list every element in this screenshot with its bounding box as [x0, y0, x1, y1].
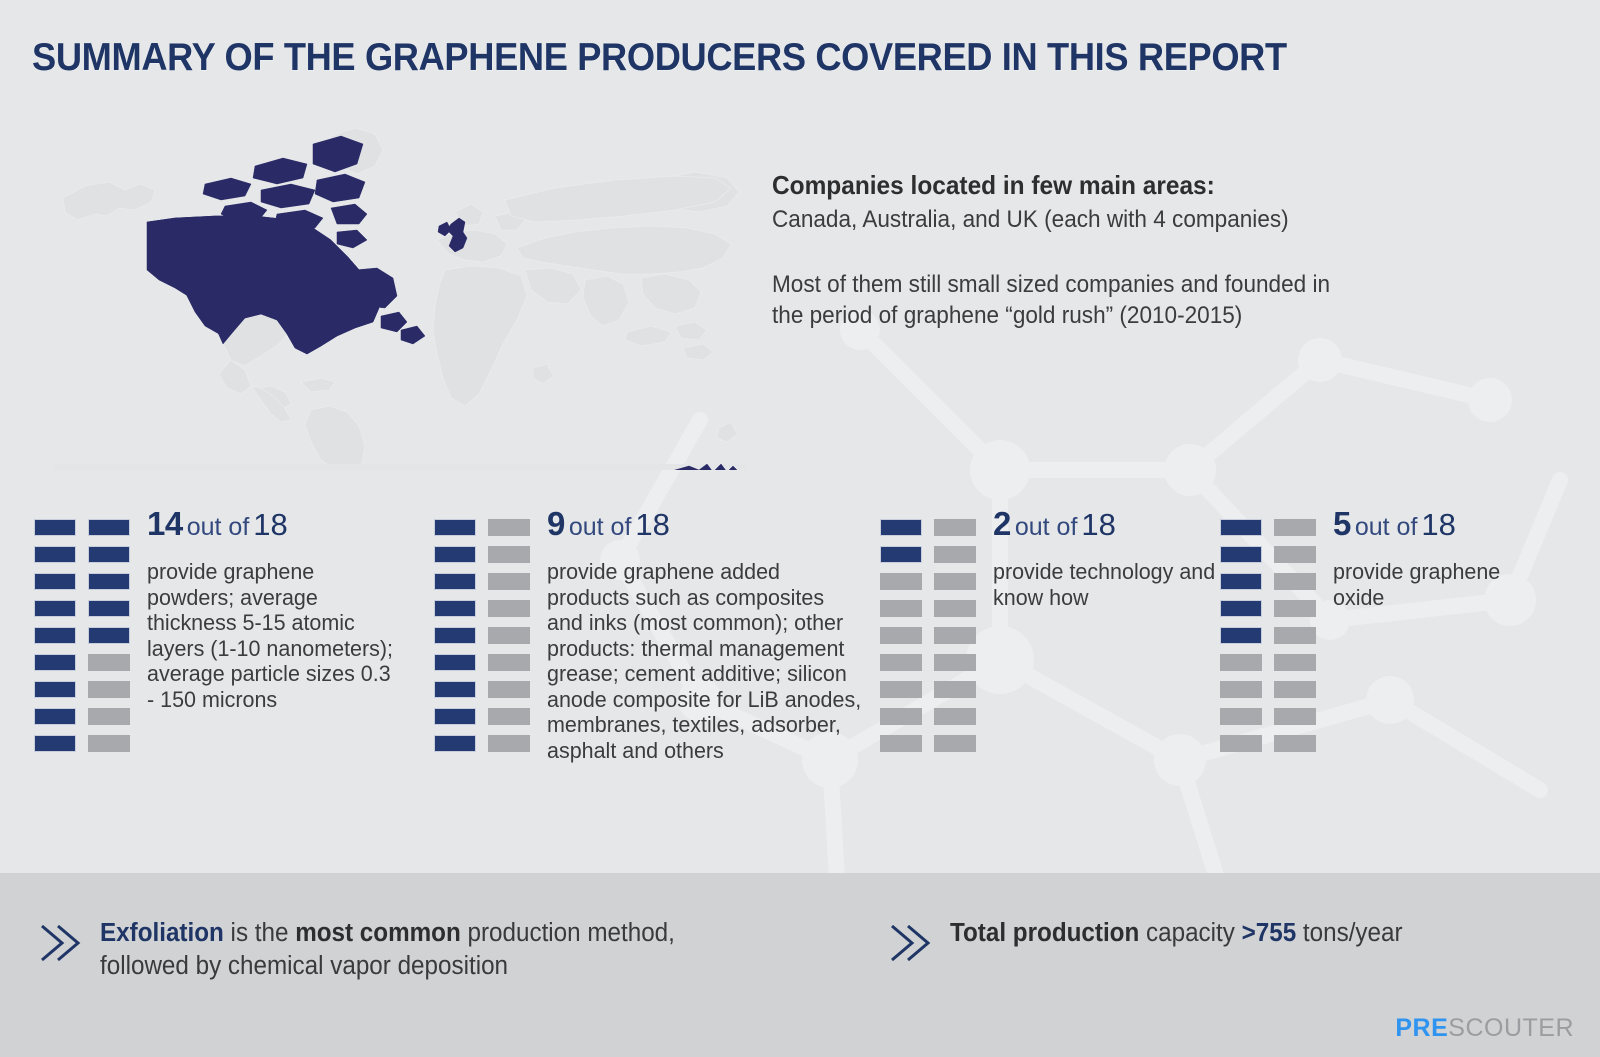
- bar-empty: [1220, 681, 1262, 698]
- logo-text-scouter: SCOUTER: [1448, 1014, 1574, 1042]
- bar-filled: [434, 519, 476, 536]
- bar-filled: [1220, 573, 1262, 590]
- bar-row: [434, 654, 530, 671]
- bar-empty: [488, 735, 530, 752]
- bar-filled: [434, 681, 476, 698]
- bar-filled: [34, 519, 76, 536]
- bar-row: [34, 654, 130, 671]
- footer-content: Exfoliation is the most common productio…: [0, 873, 1600, 1057]
- bar-row: [434, 600, 530, 617]
- footer-right-text: Total production capacity >755 tons/year: [950, 917, 1403, 950]
- bar-filled: [34, 654, 76, 671]
- bar-filled: [434, 708, 476, 725]
- stat-headline: 5out of18: [1333, 505, 1563, 543]
- bar-filled: [34, 735, 76, 752]
- page-title: SUMMARY OF THE GRAPHENE PRODUCERS COVERE…: [32, 36, 1287, 80]
- intro-paragraph: Most of them still small sized companies…: [772, 270, 1468, 331]
- bar-row: [880, 681, 976, 698]
- bar-empty: [1274, 627, 1316, 644]
- bar-filled: [434, 627, 476, 644]
- stat-connector: out of: [1011, 513, 1082, 541]
- bar-row: [34, 546, 130, 563]
- bar-row: [880, 573, 976, 590]
- bar-filled: [34, 546, 76, 563]
- bar-filled: [34, 600, 76, 617]
- bar-empty: [880, 627, 922, 644]
- stat-bar-chart: [434, 519, 530, 752]
- bar-filled: [1220, 600, 1262, 617]
- logo-text-pre: PRE: [1395, 1014, 1448, 1042]
- stat-body: 2out of18 provide technology and know ho…: [993, 505, 1233, 610]
- header: SUMMARY OF THE GRAPHENE PRODUCERS COVERE…: [32, 36, 1381, 80]
- stat-block-graphene-oxide: 5out of18 provide graphene oxide: [1210, 505, 1600, 835]
- stat-headline: 9out of18: [547, 505, 877, 543]
- bar-empty: [934, 627, 976, 644]
- footer-right-line-1: Total production capacity >755 tons/year: [950, 917, 1403, 950]
- stat-numerator: 9: [547, 505, 565, 542]
- bar-empty: [1274, 600, 1316, 617]
- double-chevron-right-icon: [36, 920, 82, 966]
- bar-filled: [88, 546, 130, 563]
- stat-bar-chart: [1220, 519, 1316, 752]
- stat-block-graphene-powders: 14out of18 provide graphene powders; ave…: [0, 505, 420, 835]
- stat-body: 9out of18 provide graphene added product…: [547, 505, 877, 763]
- bar-row: [34, 735, 130, 752]
- bar-filled: [88, 519, 130, 536]
- bar-filled: [34, 627, 76, 644]
- bar-empty: [1274, 573, 1316, 590]
- intro-lead: Companies located in few main areas:: [772, 170, 1430, 201]
- stat-numerator: 2: [993, 505, 1011, 542]
- bar-row: [880, 600, 976, 617]
- bar-empty: [880, 600, 922, 617]
- stat-description: provide graphene powders; average thickn…: [147, 559, 395, 712]
- bar-filled: [880, 546, 922, 563]
- bar-filled: [1220, 627, 1262, 644]
- stat-connector: out of: [565, 513, 636, 541]
- bar-empty: [488, 546, 530, 563]
- footer-right-text-2: capacity: [1139, 919, 1241, 947]
- stat-description: provide graphene oxide: [1333, 559, 1553, 610]
- bar-row: [434, 708, 530, 725]
- bar-row: [1220, 600, 1316, 617]
- footer-left-line-1: Exfoliation is the most common productio…: [100, 917, 675, 950]
- stat-denominator: 18: [635, 507, 669, 542]
- stat-block-graphene-added-products: 9out of18 provide graphene added product…: [420, 505, 870, 835]
- bar-empty: [1274, 735, 1316, 752]
- stat-numerator: 5: [1333, 505, 1351, 542]
- bar-row: [34, 519, 130, 536]
- bar-empty: [880, 573, 922, 590]
- stat-connector: out of: [1351, 513, 1422, 541]
- bar-empty: [934, 735, 976, 752]
- footer-right-bold-total-production: Total production: [950, 919, 1139, 947]
- bar-empty: [488, 600, 530, 617]
- stat-description: provide graphene added products such as …: [547, 559, 862, 763]
- world-map-svg: [55, 120, 745, 470]
- bar-row: [1220, 654, 1316, 671]
- stat-denominator: 18: [1081, 507, 1115, 542]
- stat-body: 5out of18 provide graphene oxide: [1333, 505, 1563, 610]
- bar-empty: [88, 708, 130, 725]
- world-map: [55, 120, 745, 470]
- bar-row: [1220, 573, 1316, 590]
- bar-row: [34, 573, 130, 590]
- bar-row: [1220, 546, 1316, 563]
- bar-filled: [434, 600, 476, 617]
- footer-left-line-2: followed by chemical vapor deposition: [100, 950, 675, 983]
- prescouter-logo: PRESCOUTER: [1395, 1014, 1574, 1043]
- bar-row: [1220, 708, 1316, 725]
- intro-sub: Canada, Australia, and UK (each with 4 c…: [772, 206, 1430, 234]
- intro-paragraph-line-2: the period of graphene “gold rush” (2010…: [772, 301, 1468, 332]
- bar-empty: [88, 735, 130, 752]
- footer-item-total-production: Total production capacity >755 tons/year: [886, 917, 1426, 966]
- stat-denominator: 18: [253, 507, 287, 542]
- bar-filled: [434, 654, 476, 671]
- bar-filled: [88, 627, 130, 644]
- bar-row: [34, 681, 130, 698]
- bar-filled: [1220, 546, 1262, 563]
- bar-filled: [1220, 519, 1262, 536]
- bar-filled: [34, 681, 76, 698]
- bar-empty: [880, 681, 922, 698]
- stat-headline: 2out of18: [993, 505, 1233, 543]
- bar-filled: [434, 735, 476, 752]
- bar-row: [34, 600, 130, 617]
- bar-row: [34, 708, 130, 725]
- bar-empty: [488, 681, 530, 698]
- stats-row: 14out of18 provide graphene powders; ave…: [0, 505, 1600, 835]
- stat-description: provide technology and know how: [993, 559, 1222, 610]
- intro-paragraph-line-1: Most of them still small sized companies…: [772, 270, 1468, 301]
- double-chevron-right-icon: [886, 920, 932, 966]
- bar-row: [1220, 681, 1316, 698]
- stat-bar-chart: [880, 519, 976, 752]
- stat-connector: out of: [183, 513, 254, 541]
- footer-left-text-4: production method,: [461, 919, 675, 947]
- bar-filled: [88, 573, 130, 590]
- stat-numerator: 14: [147, 505, 183, 542]
- stat-block-technology-know-how: 2out of18 provide technology and know ho…: [870, 505, 1210, 835]
- bar-filled: [434, 573, 476, 590]
- bar-empty: [934, 681, 976, 698]
- bar-empty: [488, 519, 530, 536]
- bar-row: [1220, 519, 1316, 536]
- bar-row: [34, 627, 130, 644]
- bar-row: [880, 735, 976, 752]
- bar-empty: [488, 654, 530, 671]
- stat-body: 14out of18 provide graphene powders; ave…: [147, 505, 407, 712]
- bar-empty: [1274, 708, 1316, 725]
- bar-filled: [34, 573, 76, 590]
- bar-filled: [88, 600, 130, 617]
- bar-empty: [88, 654, 130, 671]
- intro-text-block: Companies located in few main areas: Can…: [772, 170, 1472, 331]
- bar-empty: [1220, 735, 1262, 752]
- footer-left-bold-exfoliation: Exfoliation: [100, 919, 224, 947]
- bar-filled: [880, 519, 922, 536]
- stat-bar-chart: [34, 519, 130, 752]
- footer-left-text-2: is the: [224, 919, 295, 947]
- bar-empty: [488, 708, 530, 725]
- bar-row: [880, 546, 976, 563]
- bar-row: [880, 519, 976, 536]
- stat-headline: 14out of18: [147, 505, 407, 543]
- bar-empty: [880, 708, 922, 725]
- bar-row: [1220, 627, 1316, 644]
- stat-denominator: 18: [1421, 507, 1455, 542]
- footer-item-exfoliation: Exfoliation is the most common productio…: [36, 917, 705, 983]
- bar-empty: [88, 681, 130, 698]
- map-land-layer: [55, 128, 745, 470]
- bar-empty: [1274, 654, 1316, 671]
- footer-left-text: Exfoliation is the most common productio…: [100, 917, 675, 983]
- bar-row: [434, 627, 530, 644]
- bar-empty: [1274, 519, 1316, 536]
- bar-row: [434, 573, 530, 590]
- bar-row: [434, 546, 530, 563]
- bar-row: [434, 681, 530, 698]
- bar-row: [880, 654, 976, 671]
- bar-empty: [1274, 546, 1316, 563]
- bar-empty: [934, 519, 976, 536]
- bar-empty: [488, 627, 530, 644]
- bar-row: [1220, 735, 1316, 752]
- footer-right-bold-755: >755: [1242, 919, 1297, 947]
- bar-row: [434, 735, 530, 752]
- bar-row: [434, 519, 530, 536]
- bar-empty: [934, 546, 976, 563]
- bar-row: [880, 708, 976, 725]
- bar-row: [880, 627, 976, 644]
- bar-filled: [434, 546, 476, 563]
- footer-left-bold-most-common: most common: [295, 919, 461, 947]
- bar-empty: [934, 708, 976, 725]
- bar-empty: [488, 573, 530, 590]
- bar-empty: [1274, 681, 1316, 698]
- bar-filled: [34, 708, 76, 725]
- bar-empty: [934, 600, 976, 617]
- bar-empty: [934, 654, 976, 671]
- bar-empty: [880, 654, 922, 671]
- bar-empty: [1220, 654, 1262, 671]
- bar-empty: [1220, 708, 1262, 725]
- bar-empty: [880, 735, 922, 752]
- bar-empty: [934, 573, 976, 590]
- footer-right-text-4: tons/year: [1296, 919, 1402, 947]
